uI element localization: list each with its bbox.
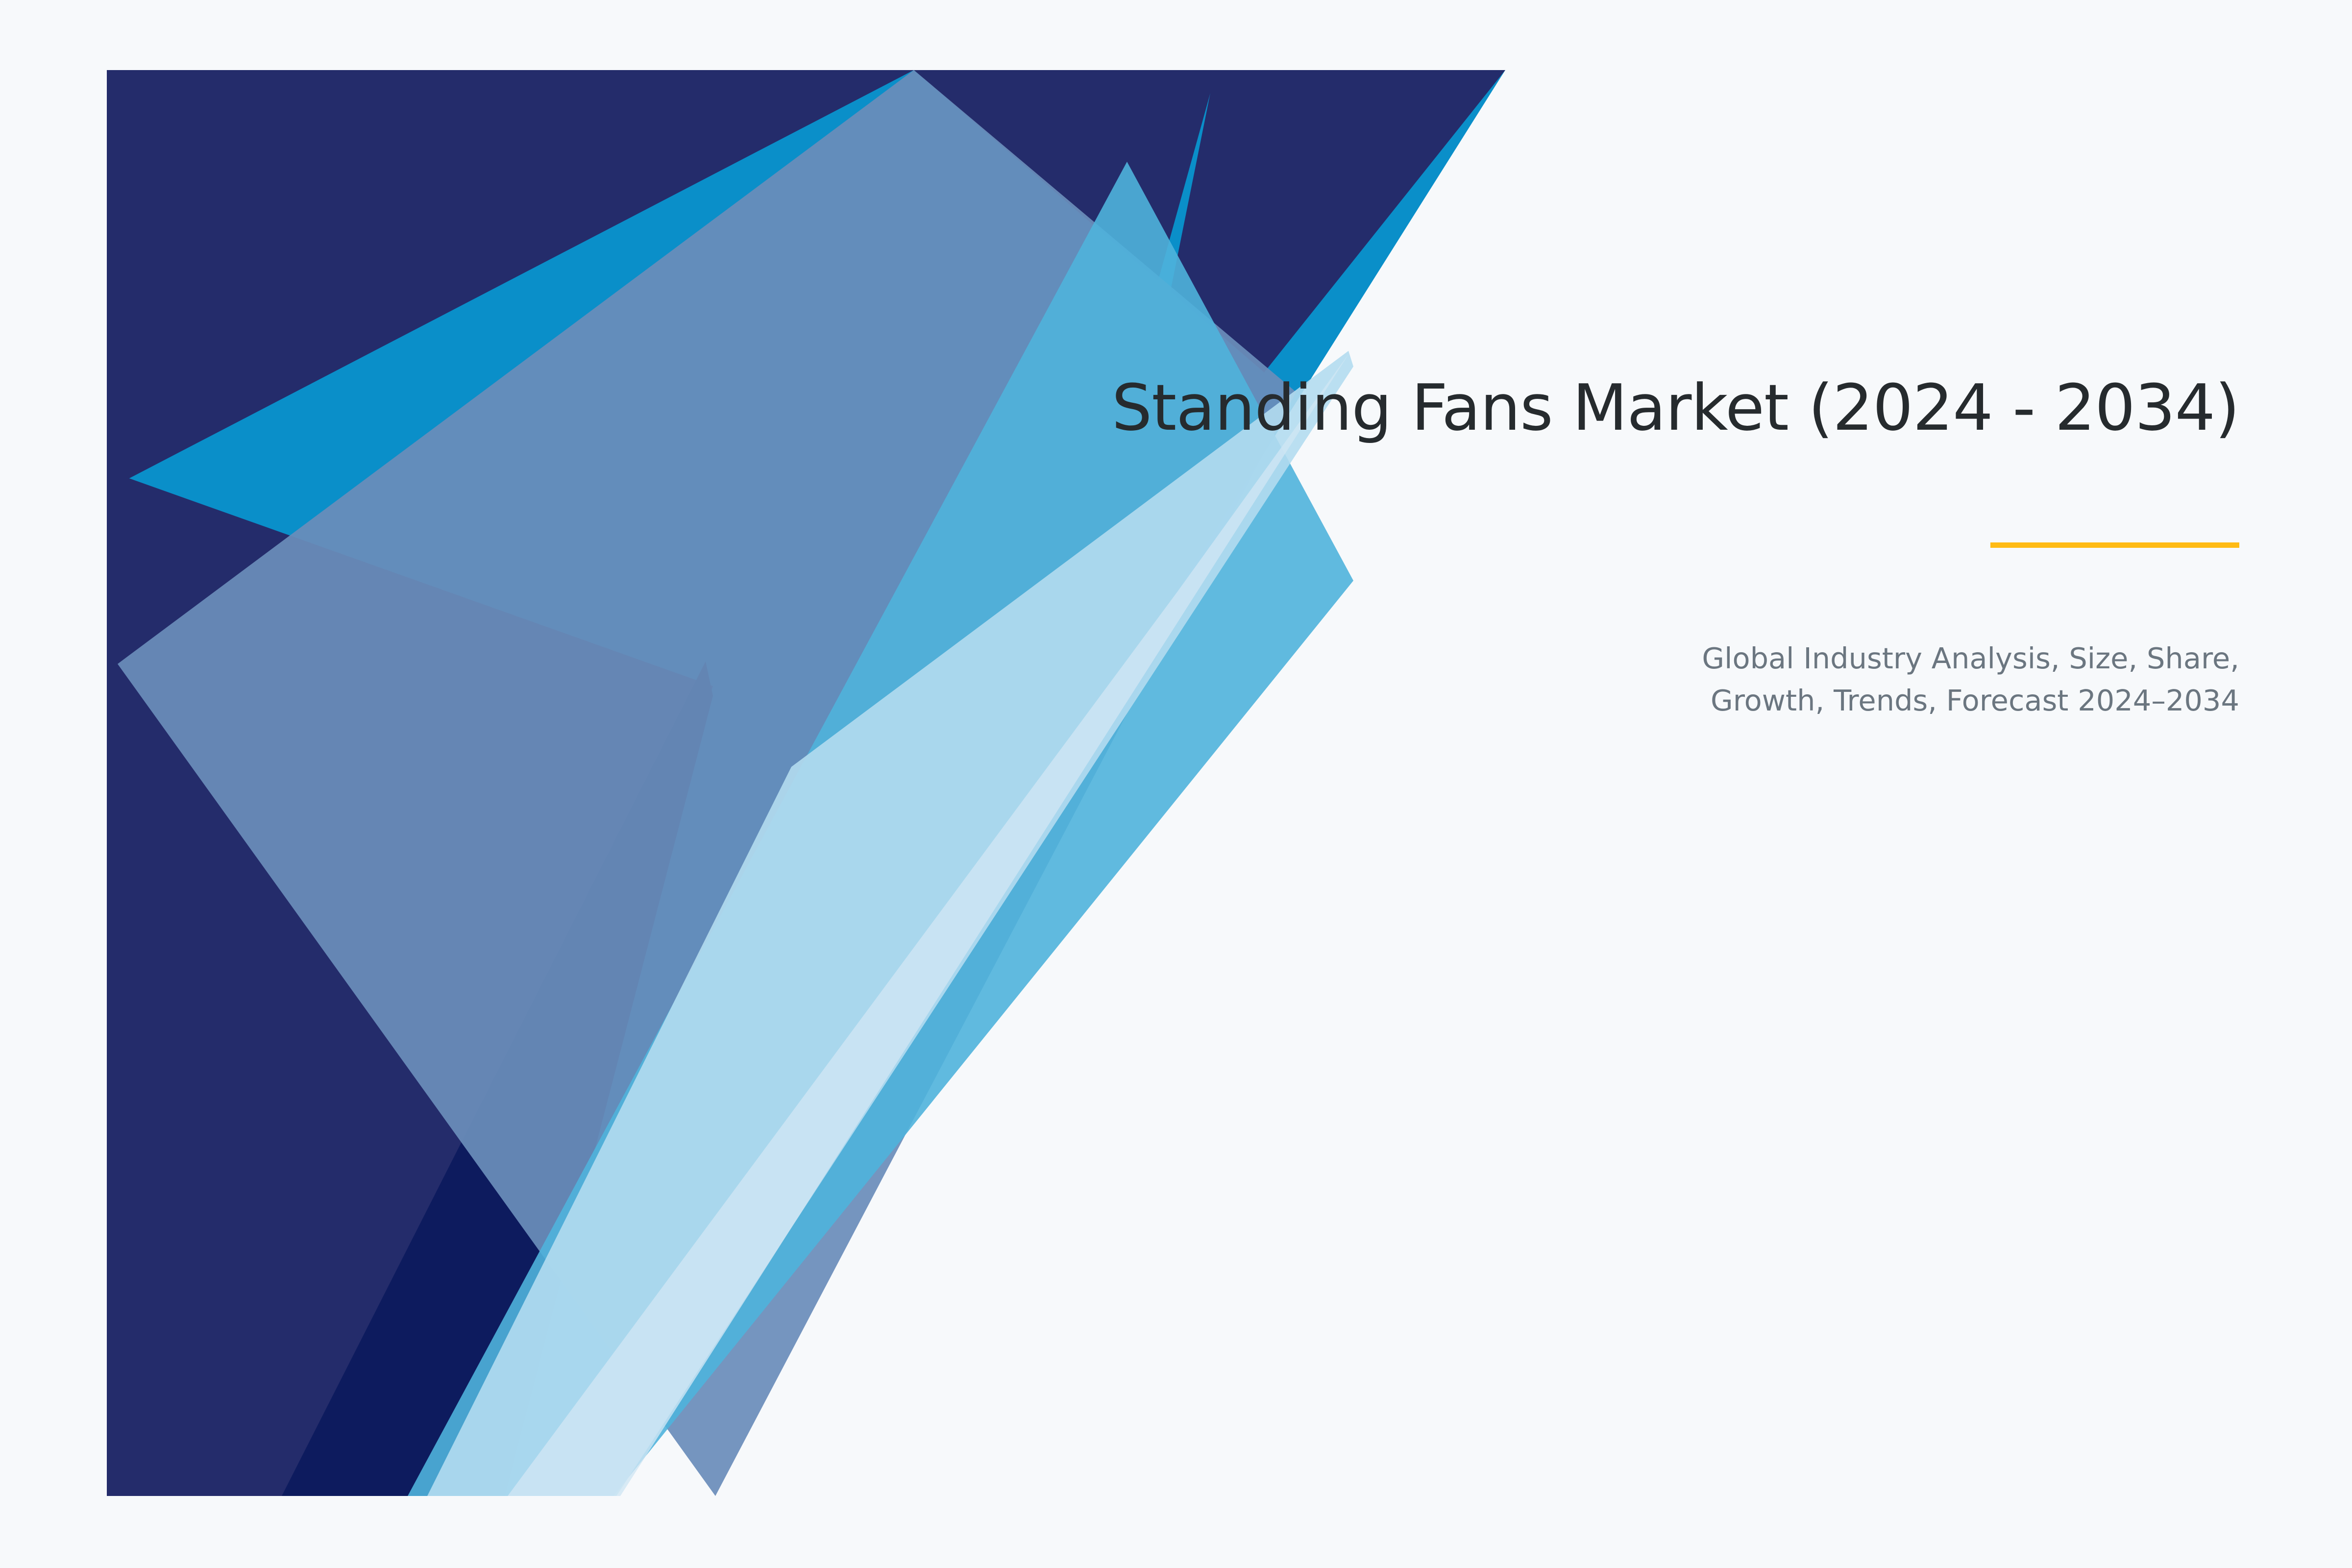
page-subtitle: Global Industry Analysis, Size, Share, G… — [1602, 637, 2239, 722]
shape-cyan-base-panel — [107, 70, 1505, 1496]
shape-sky-blue-band — [408, 162, 1353, 1496]
cover-text-block: Standing Fans Market (2024 - 2034) Globa… — [867, 372, 2239, 722]
accent-rule-container — [867, 540, 2239, 549]
report-cover: Standing Fans Market (2024 - 2034) Globa… — [0, 0, 2352, 1568]
shape-navy-left-column — [107, 470, 713, 1496]
page-title: Standing Fans Market (2024 - 2034) — [867, 372, 2239, 444]
cover-artwork — [0, 0, 2352, 1568]
shape-steel-overlay — [118, 70, 1296, 1496]
gold-divider-icon — [1990, 542, 2239, 548]
shape-deep-navy-spike — [282, 661, 713, 1496]
